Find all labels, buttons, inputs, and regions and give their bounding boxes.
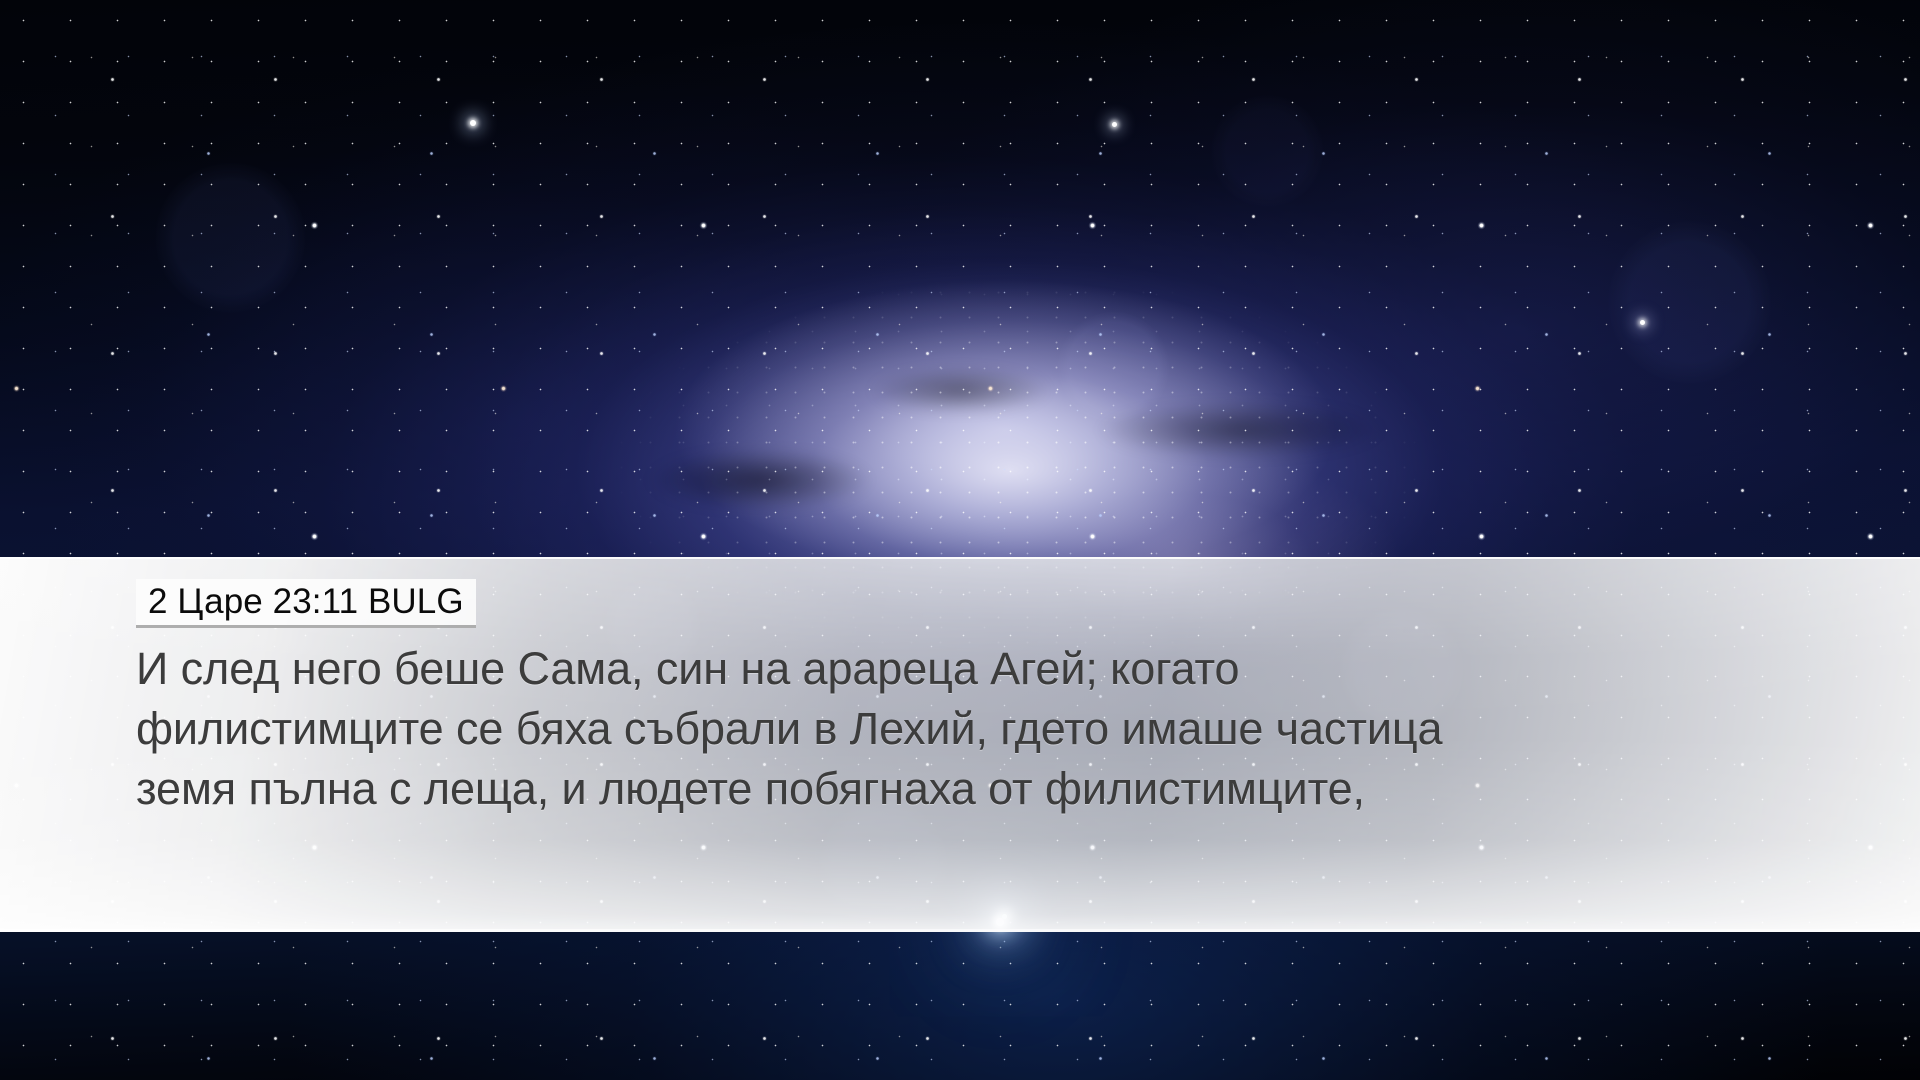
verse-line: филистимците се бяха събрали в Лехий, гд… bbox=[136, 699, 1526, 759]
bright-star-upper-left-icon bbox=[470, 120, 476, 126]
verse-overlay-band: 2 Царе 23:11 BULG И след него беше Сама,… bbox=[0, 557, 1920, 932]
bright-star-right-icon bbox=[1640, 320, 1645, 325]
verse-body: И след него беше Сама, син на арареца Аг… bbox=[136, 639, 1526, 819]
verse-line: И след него беше Сама, син на арареца Аг… bbox=[136, 639, 1526, 699]
verse-line: земя пълна с леща, и людете побягнаха от… bbox=[136, 759, 1526, 819]
verse-image-canvas: 2 Царе 23:11 BULG И след него беше Сама,… bbox=[0, 0, 1920, 1080]
verse-overlay-content: 2 Царе 23:11 BULG И след него беше Сама,… bbox=[136, 559, 1800, 819]
verse-reference: 2 Царе 23:11 BULG bbox=[136, 579, 476, 628]
bright-star-upper-right-icon bbox=[1112, 122, 1117, 127]
